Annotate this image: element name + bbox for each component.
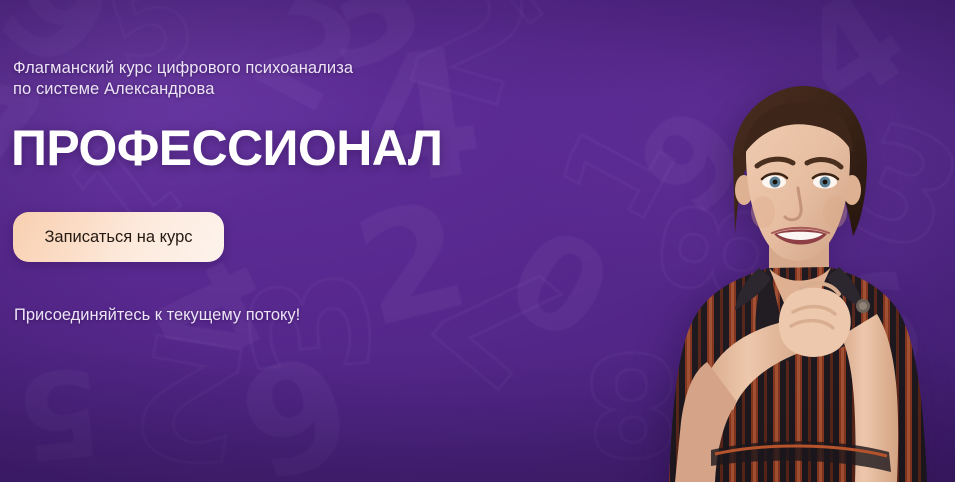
presenter-portrait — [641, 62, 947, 482]
course-subtitle: Флагманский курс цифрового психоанализа … — [13, 58, 443, 100]
join-tagline: Присоединяйтесь к текущему потоку! — [14, 305, 300, 326]
page-title: ПРОФЕССИОНАЛ — [11, 119, 442, 177]
hero-content: Флагманский курс цифрового психоанализа … — [13, 0, 493, 482]
course-subtitle-line-1: Флагманский курс цифрового психоанализа — [13, 59, 353, 77]
enroll-button[interactable]: Записаться на курс — [13, 212, 224, 262]
promo-banner: 3 2 4 2 1 9 8 2 3 4 7 0 2 6 8 5 9 5 7 1 … — [0, 0, 955, 482]
course-subtitle-line-2: по системе Александрова — [13, 79, 443, 100]
